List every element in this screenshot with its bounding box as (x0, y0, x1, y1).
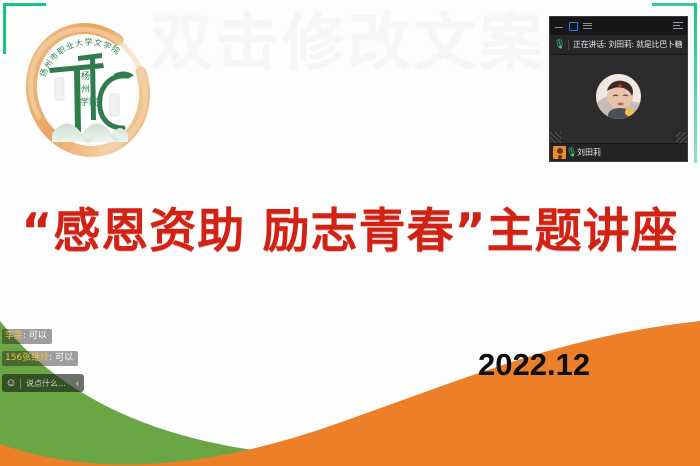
participant-name: 刘田莉 (577, 147, 601, 158)
participant-avatar (596, 74, 641, 119)
chat-message-sender: 156张继玲 (5, 353, 49, 363)
smiley-icon[interactable]: ☺ (2, 374, 20, 392)
chat-input-placeholder[interactable]: 说点什么... (21, 378, 71, 389)
restore-window-icon[interactable] (569, 22, 578, 31)
svg-text:学院: 学院 (80, 96, 98, 108)
layout-settings-icon[interactable] (673, 21, 682, 30)
chat-message-text: 可以 (55, 353, 73, 363)
resize-handle-bottom-right[interactable] (676, 132, 687, 143)
chat-input-bar[interactable]: ☺ 说点什么... ‹ (2, 374, 84, 392)
page-title: “感恩资助 励志青春”主题讲座 (0, 192, 700, 261)
video-window-titlebar[interactable] (550, 17, 687, 35)
divider (568, 40, 569, 50)
microphone-icon[interactable]: 🎙 (566, 144, 577, 161)
chat-overlay: 李雯: 可以 156张继玲: 可以 ☺ 说点什么... ‹ (2, 329, 122, 392)
svg-text:州: 州 (81, 84, 90, 95)
speaking-status-text: 正在讲话: 刘田莉: 就是比巴卜糖 (573, 39, 682, 50)
event-date: 2022.12 (478, 347, 590, 383)
video-conference-window[interactable]: 🎙 正在讲话: 刘田莉: 就是比巴卜糖 (549, 16, 688, 162)
college-seal-logo: 扬州市职业大学文学院 杨 州 学院 (18, 16, 158, 164)
speaking-status-bar: 🎙 正在讲话: 刘田莉: 就是比巴卜糖 (550, 35, 687, 55)
watermark-text: 双击修改文案 (150, 0, 546, 82)
chat-message: 156张继玲: 可以 (2, 351, 78, 366)
chevron-left-icon[interactable]: ‹ (71, 374, 84, 392)
list-view-icon[interactable] (583, 22, 592, 31)
video-window-footer: 🎙 刘田莉 (550, 143, 687, 161)
svg-text:杨: 杨 (81, 70, 90, 82)
chat-message: 李雯: 可以 (2, 329, 52, 344)
minimize-icon[interactable] (555, 22, 564, 31)
chat-message-sender: 李雯 (5, 331, 23, 341)
presentation-slide: 双击修改文案 扬州市职业大学文学院 (0, 0, 700, 466)
user-raise-hand-icon[interactable] (553, 146, 566, 159)
resize-handle-bottom-left[interactable] (550, 132, 561, 143)
video-stage[interactable] (550, 55, 687, 143)
microphone-icon: 🎙 (554, 35, 564, 54)
chat-message-text: 可以 (29, 331, 47, 341)
edge-accent-right (694, 3, 697, 163)
